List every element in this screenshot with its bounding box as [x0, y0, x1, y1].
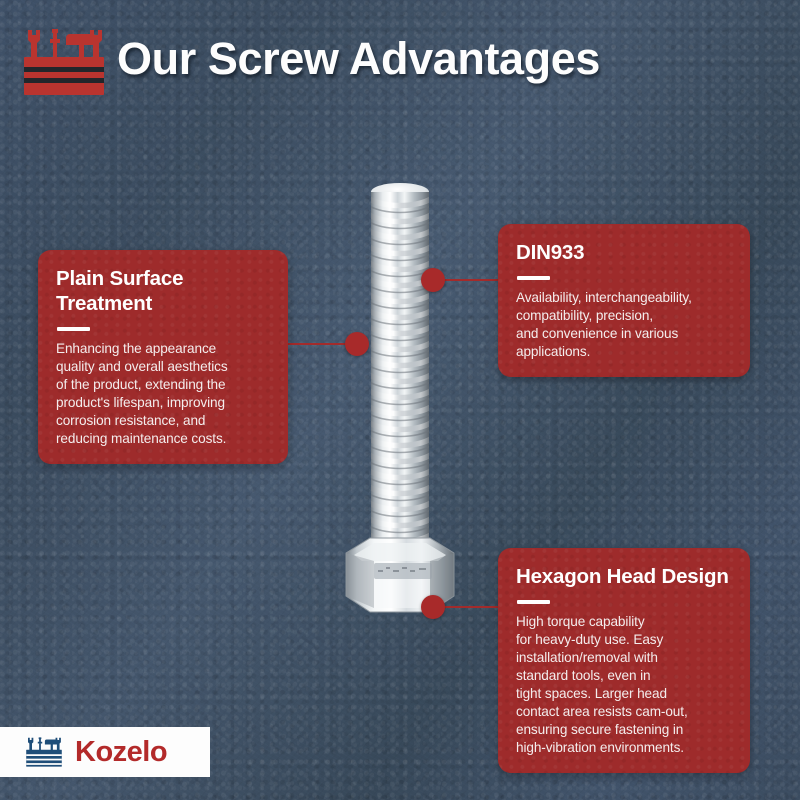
- callout-divider: [517, 276, 550, 280]
- toolbox-icon: [20, 26, 108, 98]
- callout-body: Availability, interchangeability, compat…: [516, 289, 732, 361]
- callout-hexagon-head: Hexagon Head Design High torque capabili…: [498, 548, 750, 773]
- callout-title: Hexagon Head Design: [516, 564, 732, 589]
- callout-divider: [517, 600, 550, 604]
- callout-din933: DIN933 Availability, interchangeability,…: [498, 224, 750, 377]
- callout-title: Plain Surface Treatment: [56, 266, 270, 316]
- callout-title: DIN933: [516, 240, 732, 265]
- connector-dot-plain-surface: [345, 332, 369, 356]
- footer-logo: Kozelo: [0, 727, 210, 777]
- callout-plain-surface: Plain Surface Treatment Enhancing the ap…: [38, 250, 288, 464]
- callout-body: Enhancing the appearance quality and ove…: [56, 340, 270, 448]
- callout-divider: [57, 327, 90, 331]
- connector-line-din933: [438, 279, 500, 281]
- callout-body: High torque capability for heavy-duty us…: [516, 613, 732, 757]
- toolbox-icon: [22, 736, 66, 768]
- connector-dot-hexagon-head: [421, 595, 445, 619]
- page-title: Our Screw Advantages: [117, 33, 600, 85]
- brand-name: Kozelo: [75, 736, 167, 769]
- connector-line-hexagon-head: [438, 606, 500, 608]
- header: Our Screw Advantages: [0, 0, 800, 118]
- connector-dot-din933: [421, 268, 445, 292]
- hex-head-screw-image: [330, 178, 470, 638]
